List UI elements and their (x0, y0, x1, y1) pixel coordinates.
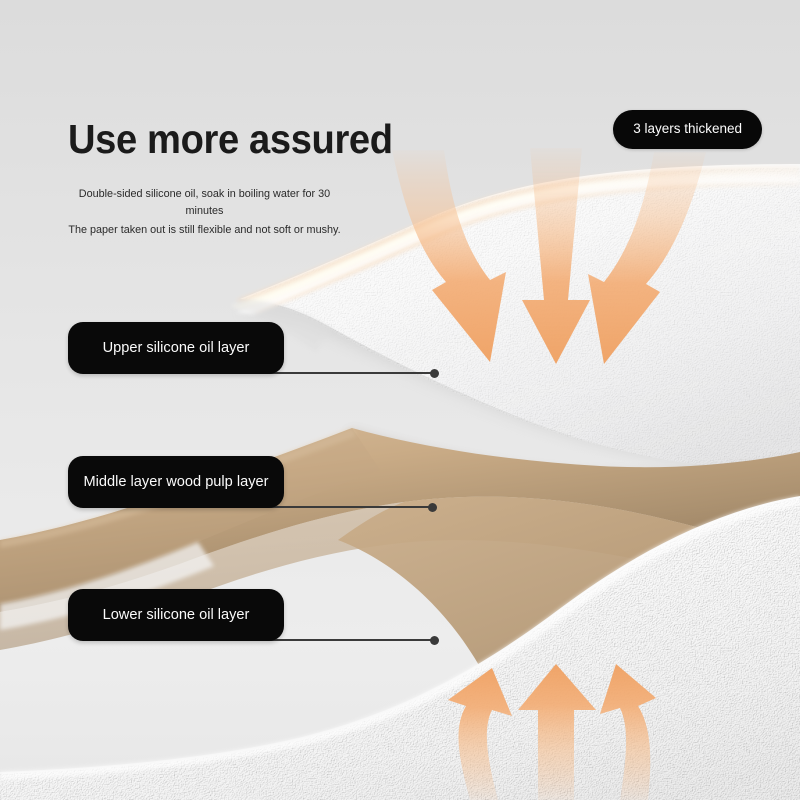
status-badge: 3 layers thickened (613, 110, 762, 149)
leader-dot-icon (428, 503, 437, 512)
subtitle-line-1: Double-sided silicone oil, soak in boili… (79, 188, 330, 217)
callout-label[interactable]: Middle layer wood pulp layer (68, 456, 284, 508)
product-infographic: Use more assured Double-sided silicone o… (0, 0, 800, 800)
leader-dot-icon (430, 636, 439, 645)
leader-dot-icon (430, 369, 439, 378)
subtitle-text: Double-sided silicone oil, soak in boili… (60, 186, 350, 239)
callout-label[interactable]: Upper silicone oil layer (68, 322, 284, 374)
page-title: Use more assured (68, 115, 393, 163)
subtitle-line-2: The paper taken out is still flexible an… (60, 222, 350, 239)
callout-label[interactable]: Lower silicone oil layer (68, 589, 284, 641)
